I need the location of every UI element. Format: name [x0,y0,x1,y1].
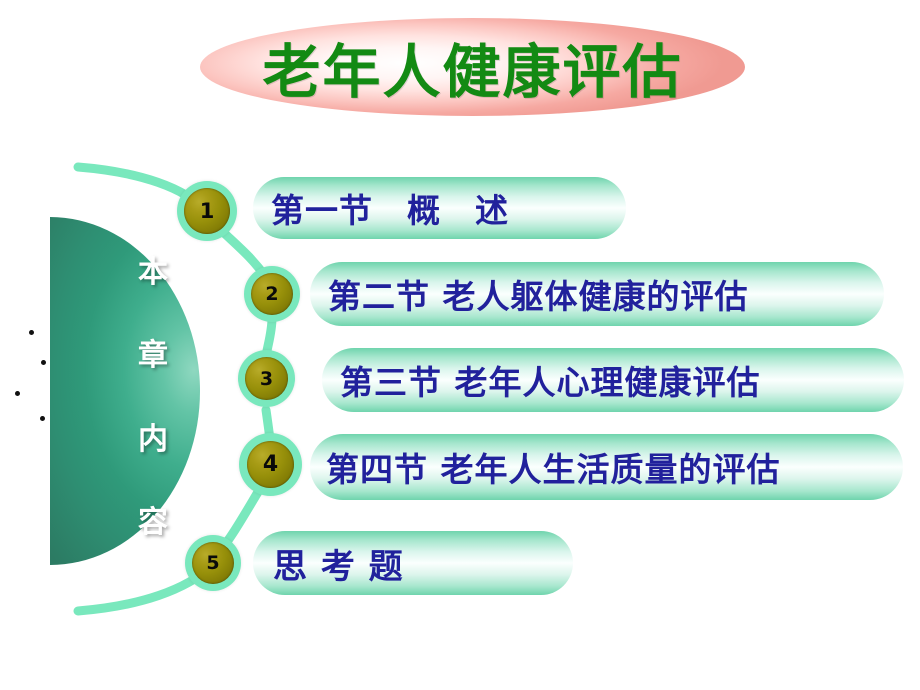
section-label-3: 第三节 老年人心理健康评估 [340,356,761,404]
section-pill-5[interactable]: 思 考 题 [253,531,573,595]
dome-char-1: 本 [138,258,168,288]
section-label-4: 第四节 老年人生活质量的评估 [326,443,781,491]
page-title: 老年人健康评估 [200,18,745,116]
section-node-1[interactable]: 1 [177,181,237,241]
section-number-3: 3 [245,357,288,400]
section-node-3[interactable]: 3 [238,350,295,407]
section-number-4: 4 [247,441,294,488]
decor-dot [29,330,34,335]
section-pill-2[interactable]: 第二节 老人躯体健康的评估 [310,262,884,326]
section-label-2: 第二节 老人躯体健康的评估 [328,270,749,318]
slide-canvas: 老年人健康评估 本 章 内 容 第一节 概 述 1 第二节 老人躯体健康的评估 … [0,0,920,690]
dome-char-4: 容 [138,508,168,538]
section-label-5: 思 考 题 [273,539,404,588]
section-label-1: 第一节 概 述 [271,184,509,232]
section-number-2: 2 [251,273,293,315]
section-pill-4[interactable]: 第四节 老年人生活质量的评估 [310,434,903,500]
dome-char-2: 章 [138,341,168,371]
section-number-5: 5 [192,542,234,584]
decor-dot [15,391,20,396]
section-pill-3[interactable]: 第三节 老年人心理健康评估 [322,348,904,412]
section-node-5[interactable]: 5 [185,535,241,591]
chapter-contents-label: 本 章 内 容 [120,258,186,538]
dome-char-3: 内 [138,425,168,455]
section-pill-1[interactable]: 第一节 概 述 [253,177,626,239]
decor-dot [41,360,46,365]
section-number-1: 1 [184,188,230,234]
section-node-4[interactable]: 4 [239,433,302,496]
decor-dot [40,416,45,421]
section-node-2[interactable]: 2 [244,266,300,322]
